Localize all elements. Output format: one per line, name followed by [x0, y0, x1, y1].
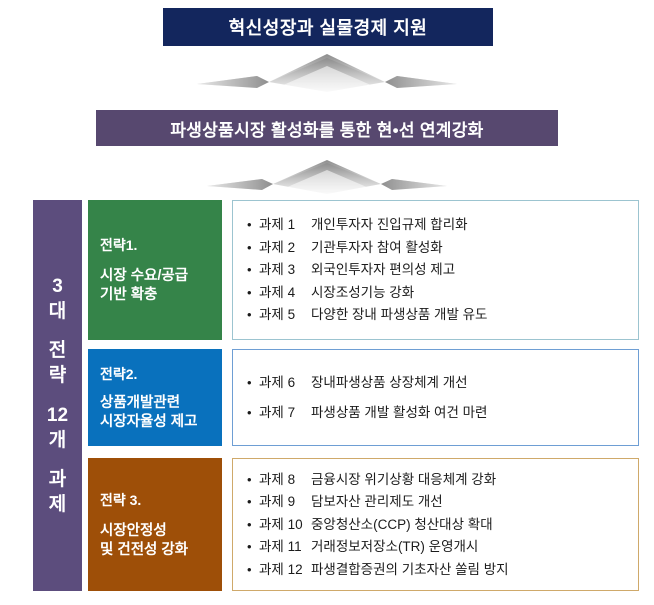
rail-label-12: 12 — [47, 403, 68, 428]
vision-banner: 혁신성장과 실물경제 지원 — [163, 8, 493, 46]
task-text: 파생상품 개발 활성화 여건 마련 — [311, 406, 638, 420]
task-text: 중앙청산소(CCP) 청산대상 확대 — [311, 518, 638, 532]
strategy-card-1: 전략1. 시장 수요/공급 기반 확충 — [88, 200, 222, 340]
chevron-up-icon — [207, 158, 447, 200]
strategy-name-1: 시장 수요/공급 기반 확충 — [100, 267, 210, 305]
task-item: • 과제 11 거래정보저장소(TR) 운영개시 — [247, 536, 638, 559]
bullet-icon: • — [247, 263, 259, 276]
task-text: 다양한 장내 파생상품 개발 유도 — [311, 308, 638, 322]
rail-label-ryak: 략 — [49, 363, 66, 388]
task-number: 과제 12 — [259, 563, 311, 577]
task-number: 과제 1 — [259, 218, 311, 232]
rail-label-gwa: 과 — [49, 467, 66, 492]
task-number: 과제 6 — [259, 376, 311, 390]
bullet-icon: • — [247, 563, 259, 576]
task-text: 장내파생상품 상장체계 개선 — [311, 376, 638, 390]
task-item: • 과제 12 파생결합증권의 기초자산 쏠림 방지 — [247, 558, 638, 581]
rail-label-jeon: 전 — [49, 338, 66, 363]
strategy-number-1: 전략1. — [100, 235, 210, 255]
task-list-2: • 과제 6 장내파생상품 상장체계 개선 • 과제 7 파생상품 개발 활성화… — [232, 349, 639, 446]
task-item: • 과제 9 담보자산 관리제도 개선 — [247, 491, 638, 514]
rail-label-3: 3 — [52, 274, 63, 299]
strategy-name-3: 시장안정성 및 건전성 강화 — [100, 522, 210, 560]
task-number: 과제 2 — [259, 241, 311, 255]
bullet-icon: • — [247, 518, 259, 531]
task-number: 과제 7 — [259, 406, 311, 420]
task-number: 과제 4 — [259, 286, 311, 300]
bullet-icon: • — [247, 376, 259, 389]
strategy-row-2: 전략2. 상품개발관련 시장자율성 제고 • 과제 6 장내파생상품 상장체계 … — [88, 349, 639, 446]
bullet-icon: • — [247, 241, 259, 254]
chevron-up-icon — [197, 52, 457, 100]
task-text: 개인투자자 진입규제 합리화 — [311, 218, 638, 232]
strategy-count-rail: 3 대 전 략 12 개 과 제 — [33, 200, 82, 591]
rail-label-gae: 개 — [49, 428, 66, 453]
task-number: 과제 11 — [259, 540, 311, 554]
strategy-card-3: 전략 3. 시장안정성 및 건전성 강화 — [88, 458, 222, 591]
task-number: 과제 5 — [259, 308, 311, 322]
task-text: 금융시장 위기상황 대응체계 강화 — [311, 473, 638, 487]
task-text: 담보자산 관리제도 개선 — [311, 495, 638, 509]
strategy-number-2: 전략2. — [100, 364, 210, 384]
task-text: 파생결합증권의 기초자산 쏠림 방지 — [311, 563, 638, 577]
strategy-number-3: 전략 3. — [100, 490, 210, 510]
strategy-card-2: 전략2. 상품개발관련 시장자율성 제고 — [88, 349, 222, 446]
task-item: • 과제 8 금융시장 위기상황 대응체계 강화 — [247, 468, 638, 491]
bullet-icon: • — [247, 218, 259, 231]
task-number: 과제 10 — [259, 518, 311, 532]
task-text: 시장조성기능 강화 — [311, 286, 638, 300]
bullet-icon: • — [247, 495, 259, 508]
task-item: • 과제 6 장내파생상품 상장체계 개선 — [247, 368, 638, 398]
task-list-1: • 과제 1 개인투자자 진입규제 합리화 • 과제 2 기관투자자 참여 활성… — [232, 200, 639, 340]
bullet-icon: • — [247, 406, 259, 419]
rail-label-je: 제 — [49, 492, 66, 517]
strategy-row-3: 전략 3. 시장안정성 및 건전성 강화 • 과제 8 금융시장 위기상황 대응… — [88, 458, 639, 591]
task-item: • 과제 7 파생상품 개발 활성화 여건 마련 — [247, 398, 638, 428]
task-item: • 과제 2 기관투자자 참여 활성화 — [247, 236, 638, 259]
task-item: • 과제 3 외국인투자자 편의성 제고 — [247, 259, 638, 282]
strategy-row-1: 전략1. 시장 수요/공급 기반 확충 • 과제 1 개인투자자 진입규제 합리… — [88, 200, 639, 340]
task-list-3: • 과제 8 금융시장 위기상황 대응체계 강화 • 과제 9 담보자산 관리제… — [232, 458, 639, 591]
goal-banner: 파생상품시장 활성화를 통한 현•선 연계강화 — [96, 110, 558, 146]
rail-label-dae: 대 — [49, 299, 66, 324]
strategy-name-2: 상품개발관련 시장자율성 제고 — [100, 394, 210, 432]
task-number: 과제 9 — [259, 495, 311, 509]
goal-banner-label: 파생상품시장 활성화를 통한 현•선 연계강화 — [170, 116, 483, 141]
task-item: • 과제 4 시장조성기능 강화 — [247, 281, 638, 304]
task-text: 외국인투자자 편의성 제고 — [311, 263, 638, 277]
bullet-icon: • — [247, 540, 259, 553]
task-number: 과제 3 — [259, 263, 311, 277]
bullet-icon: • — [247, 473, 259, 486]
bullet-icon: • — [247, 286, 259, 299]
task-number: 과제 8 — [259, 473, 311, 487]
task-text: 기관투자자 참여 활성화 — [311, 241, 638, 255]
task-item: • 과제 1 개인투자자 진입규제 합리화 — [247, 214, 638, 237]
bullet-icon: • — [247, 308, 259, 321]
task-text: 거래정보저장소(TR) 운영개시 — [311, 540, 638, 554]
vision-banner-label: 혁신성장과 실물경제 지원 — [229, 14, 428, 40]
task-item: • 과제 5 다양한 장내 파생상품 개발 유도 — [247, 304, 638, 327]
task-item: • 과제 10 중앙청산소(CCP) 청산대상 확대 — [247, 513, 638, 536]
